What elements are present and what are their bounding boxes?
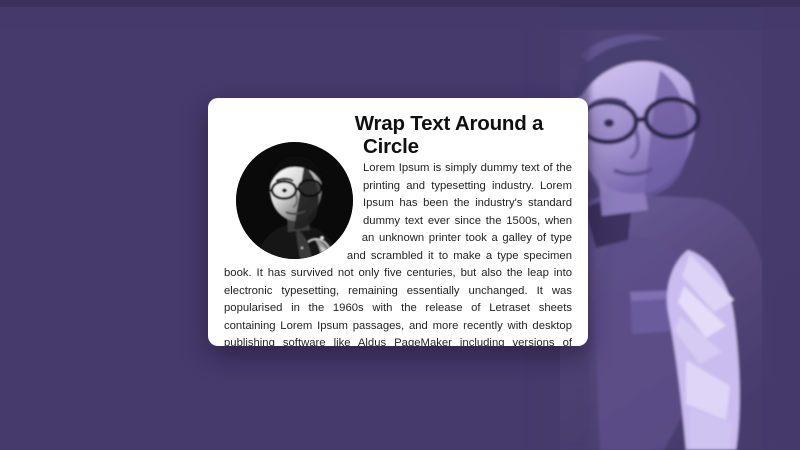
avatar <box>236 142 353 259</box>
page-canvas: Wrap Text Around a Circle Lorem Ipsum is… <box>0 0 800 450</box>
content-card: Wrap Text Around a Circle Lorem Ipsum is… <box>208 98 588 346</box>
top-edge-strip <box>0 0 800 7</box>
